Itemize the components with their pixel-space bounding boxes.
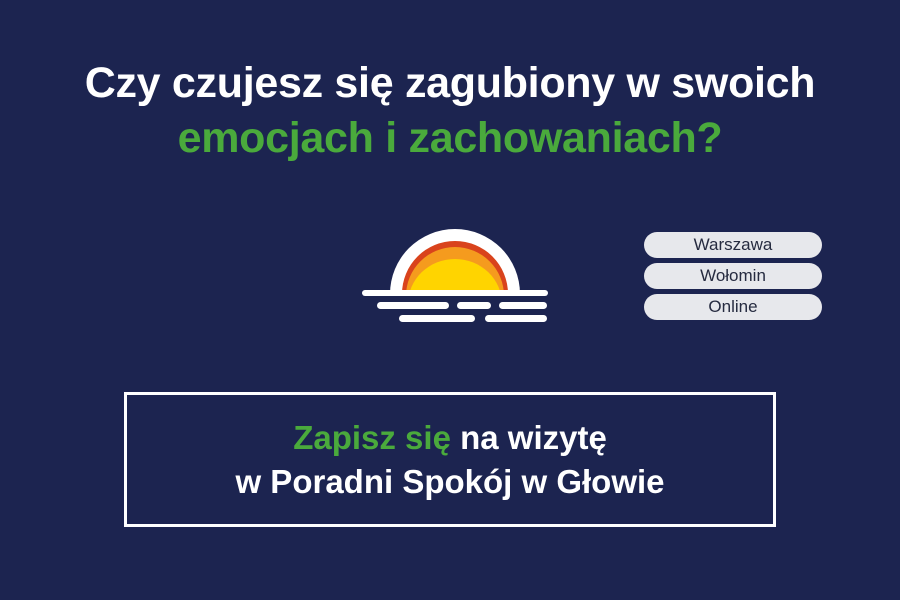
poster-canvas: Czy czujesz się zagubiony w swoich emocj… [0,0,900,600]
location-badge-label: Warszawa [694,235,773,255]
location-badge-list: Warszawa Wołomin Online [644,232,822,320]
location-badge-label: Online [708,297,757,317]
cloud-dash [457,302,491,309]
location-badge-wolomin[interactable]: Wołomin [644,263,822,289]
location-badge-online[interactable]: Online [644,294,822,320]
headline-line-2: emocjach i zachowaniach? [0,111,900,166]
location-badge-warszawa[interactable]: Warszawa [644,232,822,258]
headline-line-1: Czy czujesz się zagubiony w swoich [0,56,900,111]
cta-line-1-rest: na wizytę [451,419,607,456]
cta-line-1: Zapisz się na wizytę [293,416,607,460]
cloud-dash [485,315,547,322]
cloud-dash [377,302,449,309]
cta-line-2: w Poradni Spokój w Głowie [235,460,664,504]
sun-dome-group [390,229,520,328]
cloud-dash [399,315,475,322]
horizon-line [362,290,548,296]
page-title: Czy czujesz się zagubiony w swoich emocj… [0,56,900,166]
cta-accent-text: Zapisz się [293,419,451,456]
sunrise-logo [355,222,555,328]
cta-box[interactable]: Zapisz się na wizytę w Poradni Spokój w … [124,392,776,527]
cloud-dash [499,302,547,309]
location-badge-label: Wołomin [700,266,766,286]
